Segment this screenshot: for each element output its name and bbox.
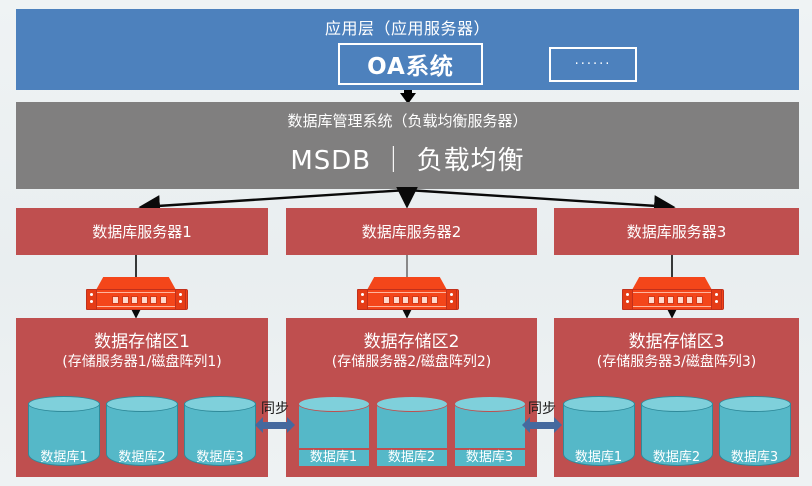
storage-zone-box-3[interactable]: 数据存储区3 (存储服务器3/磁盘阵列3) 数据库1 数据库2 数据库3	[554, 318, 799, 477]
rack-ear-left	[86, 289, 97, 310]
database-cylinder-icon[interactable]: 数据库2	[641, 396, 713, 468]
db-server-box-3[interactable]: 数据库服务器3	[554, 208, 799, 255]
arrow-dbms-to-server1	[142, 190, 407, 207]
rack-server-icon-1	[84, 277, 188, 311]
rack-server-icon-2	[355, 277, 459, 311]
database-cylinder-icon[interactable]: 数据库1	[28, 396, 100, 468]
oa-system-box[interactable]: OA系统	[338, 43, 483, 85]
application-layer-title: 应用层（应用服务器）	[16, 15, 799, 39]
database-cylinder-row-3: 数据库1 数据库2 数据库3	[554, 396, 799, 468]
more-systems-label: ······	[575, 57, 612, 72]
diagram-canvas: 应用层（应用服务器） OA系统 ······ 数据库管理系统（负载均衡服务器） …	[0, 0, 812, 486]
database-label: 数据库1	[298, 446, 370, 465]
database-label: 数据库3	[184, 446, 256, 465]
database-label: 数据库2	[106, 446, 178, 465]
database-label: 数据库1	[28, 446, 100, 465]
sync-label-1: 同步	[261, 398, 289, 418]
sync-arrow-head-right	[287, 417, 295, 433]
sync-label-2: 同步	[528, 398, 556, 418]
storage-zone-box-2[interactable]: 数据存储区2 (存储服务器2/磁盘阵列2) 数据库1 数据库2 数据库3	[286, 318, 537, 477]
arrow-dbms-to-server3	[407, 190, 672, 207]
sync-arrow-head-right	[554, 417, 562, 433]
database-label: 数据库2	[376, 446, 448, 465]
storage-zone-title-3: 数据存储区3	[554, 327, 799, 352]
database-cylinder-row-2: 数据库1 数据库2 数据库3	[286, 396, 537, 468]
rack-ear-left	[622, 289, 633, 310]
oa-system-label: OA系统	[367, 47, 454, 81]
dbms-layer-title: 数据库管理系统（负载均衡服务器）	[16, 110, 799, 131]
database-cylinder-icon[interactable]: 数据库3	[184, 396, 256, 468]
rack-ear-left	[357, 289, 368, 310]
rack-leds	[383, 296, 438, 304]
database-label: 数据库3	[719, 446, 791, 465]
storage-zone-subtitle-2: (存储服务器2/磁盘阵列2)	[286, 351, 537, 371]
db-server-label-2: 数据库服务器2	[362, 221, 462, 242]
sync-arrow-head-left	[522, 417, 530, 433]
database-label: 数据库1	[563, 446, 635, 465]
storage-zone-subtitle-3: (存储服务器3/磁盘阵列3)	[554, 351, 799, 371]
db-server-label-3: 数据库服务器3	[627, 221, 727, 242]
db-server-box-2[interactable]: 数据库服务器2	[286, 208, 537, 255]
rack-leds	[648, 296, 703, 304]
database-cylinder-icon[interactable]: 数据库1	[563, 396, 635, 468]
storage-zone-title-1: 数据存储区1	[16, 327, 268, 352]
rack-leds	[112, 296, 167, 304]
database-cylinder-row-1: 数据库1 数据库2 数据库3	[16, 396, 268, 468]
dbms-layer-panel: 数据库管理系统（负载均衡服务器） MSDB ｜ 负载均衡	[16, 102, 799, 189]
rack-server-icon-3	[620, 277, 724, 311]
database-cylinder-icon[interactable]: 数据库1	[298, 396, 370, 468]
database-cylinder-icon[interactable]: 数据库2	[376, 396, 448, 468]
application-layer-panel: 应用层（应用服务器） OA系统 ······	[16, 9, 799, 90]
dbms-layer-subtitle: MSDB ｜ 负载均衡	[16, 140, 799, 177]
rack-ear-right	[175, 289, 186, 310]
database-cylinder-icon[interactable]: 数据库2	[106, 396, 178, 468]
sync-arrow-bar	[262, 422, 288, 429]
storage-zone-subtitle-1: (存储服务器1/磁盘阵列1)	[16, 351, 268, 371]
database-label: 数据库3	[454, 446, 526, 465]
db-server-box-1[interactable]: 数据库服务器1	[16, 208, 268, 255]
sync-arrow-bar	[529, 422, 555, 429]
database-cylinder-icon[interactable]: 数据库3	[719, 396, 791, 468]
sync-connector-1[interactable]: 同步	[255, 398, 295, 444]
sync-arrow-head-left	[255, 417, 263, 433]
sync-connector-2[interactable]: 同步	[522, 398, 562, 444]
db-server-label-1: 数据库服务器1	[92, 221, 192, 242]
database-label: 数据库2	[641, 446, 713, 465]
rack-ear-right	[446, 289, 457, 310]
storage-zone-title-2: 数据存储区2	[286, 327, 537, 352]
more-systems-box[interactable]: ······	[549, 47, 637, 82]
database-cylinder-icon[interactable]: 数据库3	[454, 396, 526, 468]
rack-ear-right	[711, 289, 722, 310]
storage-zone-box-1[interactable]: 数据存储区1 (存储服务器1/磁盘阵列1) 数据库1 数据库2 数据库3	[16, 318, 268, 477]
